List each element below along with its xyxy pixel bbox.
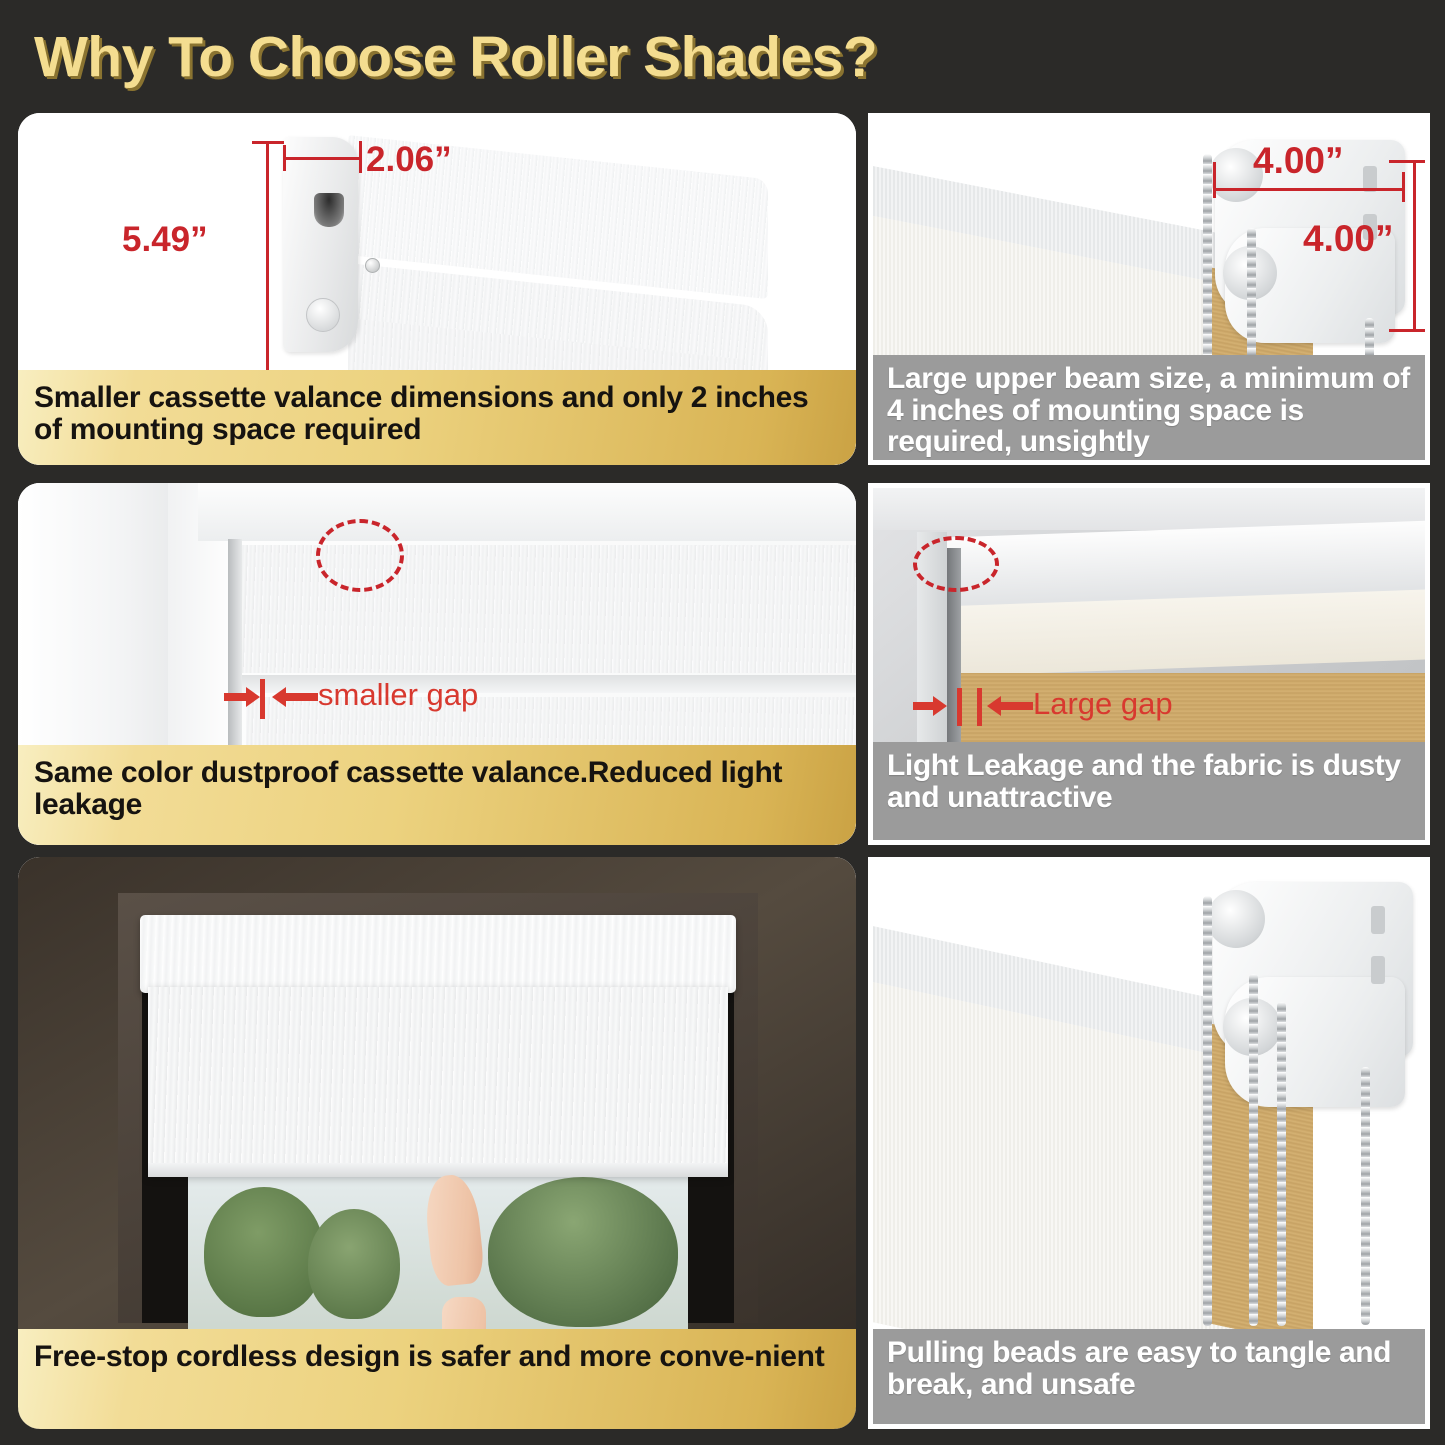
valance-slot: [314, 193, 344, 227]
panel-cordless-design: Free-stop cordless design is safer and m…: [18, 857, 856, 1429]
gap-arrow-left-icon: [913, 688, 983, 728]
panel-2-caption-text: Large upper beam size, a minimum of 4 in…: [887, 363, 1413, 458]
roller-disc-top: [1207, 890, 1265, 948]
panel-5-caption-bar: Free-stop cordless design is safer and m…: [18, 1329, 856, 1429]
gap-marker-right: [977, 688, 982, 726]
smaller-gap-label: smaller gap: [318, 677, 478, 713]
beam-width-dimension-label: 4.00”: [1253, 140, 1344, 182]
beam-height-dimension-line: [1413, 160, 1416, 332]
tree-center: [308, 1209, 400, 1319]
panel-4-image: Large gap Light Leakage and the fabric i…: [873, 488, 1425, 840]
width-dimension-label: 2.06”: [366, 140, 452, 180]
panel-smaller-cassette: 5.49” 2.06” Smaller cassette valance dim…: [18, 113, 856, 465]
large-gap-label: Large gap: [1033, 686, 1173, 722]
panel-1-image: 5.49” 2.06” Smaller cassette valance dim…: [18, 113, 856, 465]
panel-large-upper-beam: 4.00” 4.00” Large upper beam size, a min…: [868, 113, 1430, 465]
beam-width-tick-left: [1213, 162, 1216, 198]
bead-chain-middle: [1249, 974, 1258, 1326]
tree-right: [488, 1177, 678, 1327]
width-dimension-line: [283, 157, 362, 160]
panel-light-leakage: Large gap Light Leakage and the fabric i…: [868, 483, 1430, 845]
panel-3-image: smaller gap Same color dustproof cassett…: [18, 483, 856, 845]
panel-5-image: Free-stop cordless design is safer and m…: [18, 857, 856, 1429]
panel-pulling-beads: Pulling beads are easy to tangle and bre…: [868, 857, 1430, 1429]
panel-5-caption-text: Free-stop cordless design is safer and m…: [34, 1341, 824, 1373]
bead-chain-left: [1203, 896, 1212, 1326]
gap-arrow-right-icon: [270, 679, 320, 719]
bottom-rail: [148, 1163, 728, 1177]
panel-6-caption-bar: Pulling beads are easy to tangle and bre…: [873, 1329, 1425, 1424]
page-title: Why To Choose Roller Shades?: [34, 22, 1414, 92]
panel-6-image: Pulling beads are easy to tangle and bre…: [873, 862, 1425, 1424]
cassette-valance-big: [140, 915, 736, 993]
height-dimension-label: 5.49”: [122, 220, 208, 260]
beam-height-tick-top: [1389, 160, 1425, 163]
bead-chain-right: [1361, 1067, 1370, 1325]
highlight-circle-icon: [316, 519, 404, 592]
beam-width-dimension-line: [1213, 188, 1405, 191]
gap-arrow-right-icon: [985, 688, 1035, 728]
highlight-circle-icon: [913, 536, 999, 592]
panel-2-caption-bar: Large upper beam size, a minimum of 4 in…: [873, 355, 1425, 460]
beam-height-tick-bottom: [1389, 329, 1425, 332]
beam-height-dimension-label: 4.00”: [1303, 218, 1394, 260]
panel-dustproof-valance: smaller gap Same color dustproof cassett…: [18, 483, 856, 845]
valance-knob: [306, 298, 340, 332]
panel-4-caption-text: Light Leakage and the fabric is dusty an…: [887, 750, 1413, 813]
panel-1-caption-text: Smaller cassette valance dimensions and …: [34, 382, 840, 447]
bracket-slot-bottom: [1371, 956, 1385, 984]
width-tick-left: [283, 145, 286, 171]
bracket-slot-top: [1371, 906, 1385, 934]
panel-3-caption-text: Same color dustproof cassette valance.Re…: [34, 757, 840, 822]
gap-marker: [260, 679, 265, 719]
infographic-page: Why To Choose Roller Shades? 5.49”: [0, 0, 1445, 1445]
height-tick-top: [252, 141, 284, 144]
beam-width-tick-right: [1402, 172, 1405, 202]
panel-4-caption-bar: Light Leakage and the fabric is dusty an…: [873, 742, 1425, 840]
valance-screw: [365, 258, 380, 273]
shade-fabric-big: [148, 987, 728, 1175]
panel-3-caption-bar: Same color dustproof cassette valance.Re…: [18, 745, 856, 845]
frame-head: [198, 483, 856, 541]
panel-2-image: 4.00” 4.00” Large upper beam size, a min…: [873, 118, 1425, 460]
bead-chain-middle-2: [1277, 1002, 1286, 1326]
tree-left: [204, 1187, 324, 1317]
panel-1-caption-bar: Smaller cassette valance dimensions and …: [18, 370, 856, 465]
gap-marker-left: [957, 688, 962, 726]
width-tick-right: [359, 141, 362, 173]
panel-6-caption-text: Pulling beads are easy to tangle and bre…: [887, 1337, 1413, 1400]
